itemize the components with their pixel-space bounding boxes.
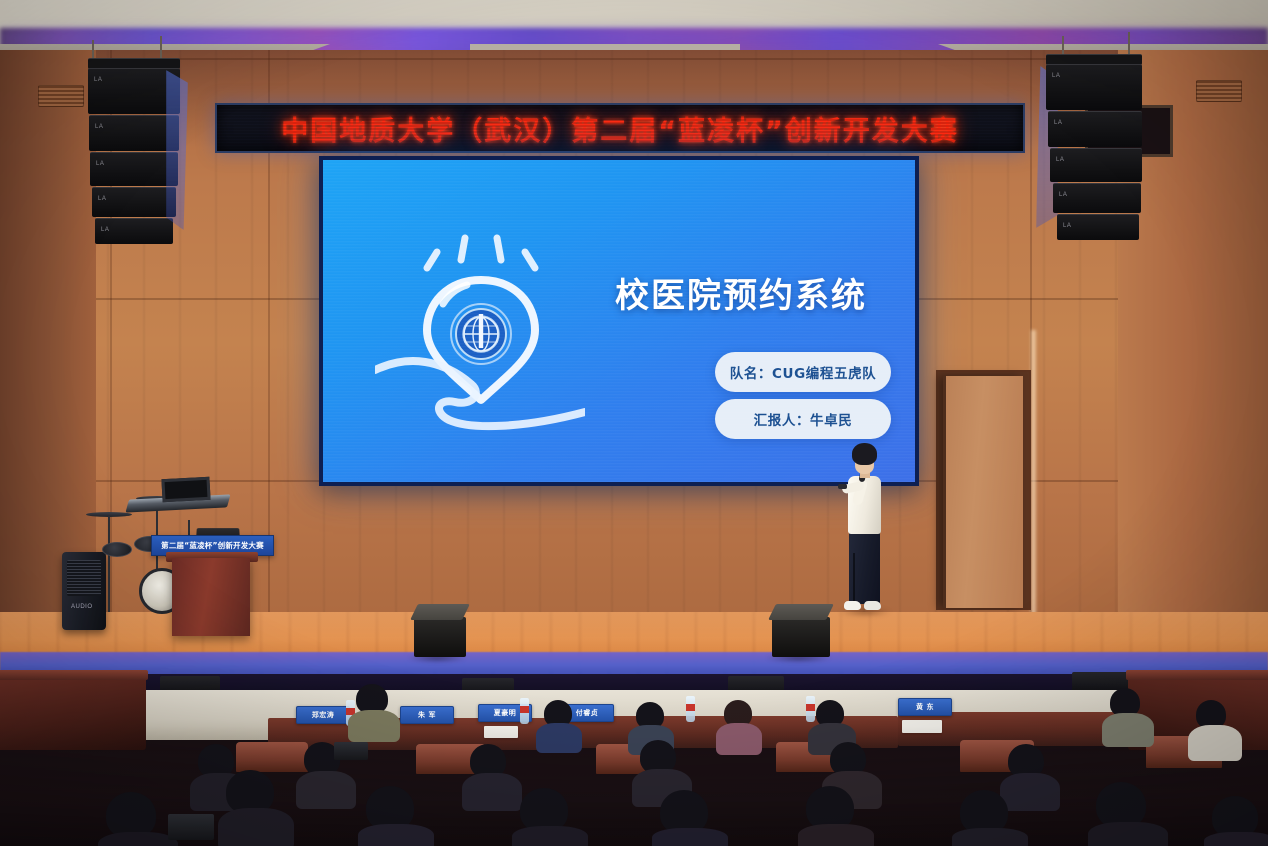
podium-banner-text: 第二届“蓝凌杯”创新开发大赛 [161,540,264,551]
slide-team-pill: 队名：CUG编程五虎队 [715,352,891,392]
line-array-speaker-left: LA LA LA LA LA [88,58,180,240]
audience-person [520,788,578,846]
audience-person [806,786,864,846]
slide-team-text: 队名：CUG编程五虎队 [730,362,877,382]
line-array-speaker-right: LA LA LA LA LA [1046,54,1142,240]
auditorium-scene: ▮ 中国地质大学（武汉）第二届“蓝凌杯”创新开发大赛 LA LA LA LA L… [0,0,1268,846]
slide-surface: 校医院预约系统 队名：CUG编程五虎队 汇报人：牛卓民 [323,160,915,482]
side-exit-door[interactable] [943,376,1023,608]
presenter-leg-seam [853,553,855,603]
name-card-3-text: 夏豪明 [494,708,517,718]
water-bottle-3 [686,696,695,722]
audience-laptop [168,814,214,840]
audience-person [1096,782,1156,846]
water-bottle-4 [806,696,815,722]
slide-logo [375,222,585,452]
slide-title: 校医院预约系统 [591,268,891,317]
presenter-on-stage [838,443,890,615]
stage-monitor-right [772,604,830,660]
led-banner: 中国地质大学（武汉）第二届“蓝凌杯”创新开发大赛 [215,103,1025,153]
name-card-1-text: 郑宏涛 [312,710,335,720]
stage-keyboard-rig [128,487,238,532]
led-banner-text: 中国地质大学（武汉）第二届“蓝凌杯”创新开发大赛 [281,109,959,148]
audience-person [960,790,1018,846]
presenter-shoe-right [864,601,881,610]
side-console-top-right [1126,670,1268,680]
name-card-5-text: 黄 东 [916,702,934,712]
audience-person [356,684,396,740]
seat-back [236,742,308,772]
audience-person [106,792,168,846]
drum-pad-1 [102,542,132,557]
audience-person [1196,700,1236,760]
name-card-2: 朱 军 [400,706,454,724]
slide-presenter-pill: 汇报人：牛卓民 [715,399,891,439]
wall-corner-highlight [1030,330,1037,630]
audience-person [1212,796,1268,846]
water-bottle-2 [520,698,529,724]
wall-vent-left [38,85,84,107]
presenter-hair [852,443,877,465]
presentation-clicker [838,484,847,489]
audience-person [660,790,718,846]
slide-presenter-text: 汇报人：牛卓民 [754,409,853,429]
audience-person [724,700,760,754]
name-card-2-text: 朱 军 [418,710,436,720]
audience-laptop [334,742,368,760]
audience-person [366,786,424,846]
wall-vent-right [1196,80,1242,102]
side-console-top-left [0,670,148,680]
audience-person [1110,688,1150,746]
audience-person [470,744,516,810]
stage-monitor-left [414,604,466,660]
name-card-1: 郑宏涛 [296,706,350,724]
audience-person [544,700,580,752]
name-card-5: 黄 东 [898,698,952,716]
presenter-shoe-left [844,601,861,610]
projection-screen: 校医院预约系统 队名：CUG编程五虎队 汇报人：牛卓民 [319,156,919,486]
keyboard-display-monitor [161,477,210,502]
podium [172,558,250,636]
audience-person [226,770,284,846]
